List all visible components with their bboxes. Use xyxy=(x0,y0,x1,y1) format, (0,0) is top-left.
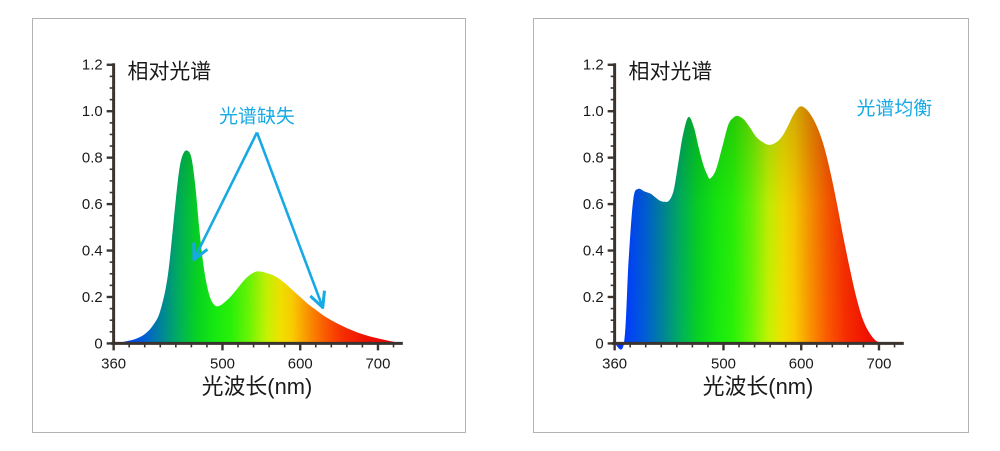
y-tick-label: 0.8 xyxy=(583,150,604,167)
annotation-label-right: 光谱均衡 xyxy=(857,98,933,120)
y-tick-label: 0 xyxy=(595,335,603,352)
y-tick-label: 1.0 xyxy=(82,103,103,120)
x-tick-label: 500 xyxy=(210,355,235,372)
x-tick-labels-right: 360500600700 xyxy=(602,355,891,372)
y-tick-label: 1.2 xyxy=(82,57,103,74)
spectrum-curve-left xyxy=(33,19,465,432)
x-axis-title-right: 光波长(nm) xyxy=(703,374,814,399)
spectrum-curve-right xyxy=(534,19,968,432)
y-tick-label: 0.8 xyxy=(82,150,103,167)
x-tick-label: 360 xyxy=(101,355,126,372)
figure-canvas: 相对光谱 00.20.40.60.81.01.2 360500600700 光波… xyxy=(0,0,1000,451)
x-axis-title-left: 光波长(nm) xyxy=(202,374,313,399)
left-chart-svg: 相对光谱 00.20.40.60.81.01.2 360500600700 光波… xyxy=(33,19,465,432)
x-tick-label: 500 xyxy=(711,355,736,372)
spectrum-panel-right: 相对光谱 00.20.40.60.81.01.2 360500600700 光波… xyxy=(533,18,969,433)
plot-title-right: 相对光谱 xyxy=(629,61,713,84)
right-chart-svg: 相对光谱 00.20.40.60.81.01.2 360500600700 光波… xyxy=(534,19,968,432)
x-tick-label: 700 xyxy=(366,355,391,372)
y-tick-label: 0 xyxy=(94,335,102,352)
annotation-label-left: 光谱缺失 xyxy=(219,106,295,128)
y-tick-label: 1.2 xyxy=(583,57,604,74)
y-tick-label: 0.6 xyxy=(82,196,103,213)
y-tick-label: 0.4 xyxy=(82,243,103,260)
y-tick-label: 0.6 xyxy=(583,196,604,213)
x-tick-label: 600 xyxy=(789,355,814,372)
y-tick-label: 0.4 xyxy=(583,243,604,260)
y-tick-label: 0.2 xyxy=(82,289,103,306)
x-tick-label: 600 xyxy=(288,355,313,372)
arrow-to-cyan-gap-icon xyxy=(195,132,257,256)
y-tick-label: 1.0 xyxy=(583,103,604,120)
x-tick-label: 360 xyxy=(602,355,627,372)
y-tick-label: 0.2 xyxy=(583,289,604,306)
plot-title-left: 相对光谱 xyxy=(128,61,212,84)
x-tick-label: 700 xyxy=(867,355,892,372)
x-tick-labels-left: 360500600700 xyxy=(101,355,390,372)
y-tick-labels-right: 00.20.40.60.81.01.2 xyxy=(583,57,604,353)
spectrum-panel-left: 相对光谱 00.20.40.60.81.01.2 360500600700 光波… xyxy=(32,18,466,433)
y-tick-labels-left: 00.20.40.60.81.01.2 xyxy=(82,57,103,353)
